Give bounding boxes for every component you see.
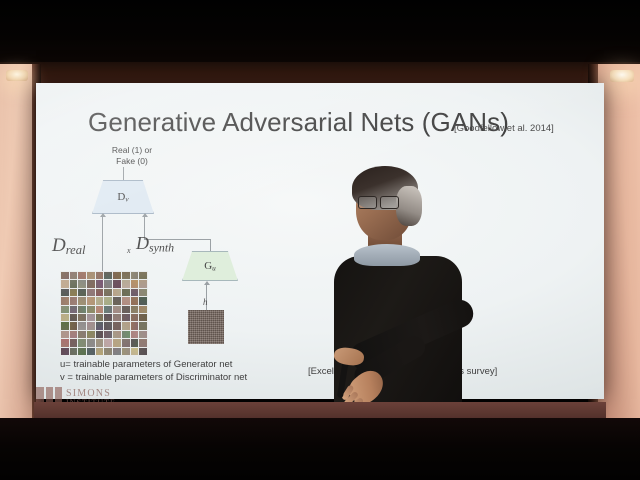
real-image-thumbnail: [96, 297, 104, 304]
real-image-thumbnail: [87, 331, 95, 338]
real-image-thumbnail: [131, 339, 139, 346]
real-image-thumbnail: [61, 272, 69, 279]
real-image-thumbnail: [139, 322, 147, 329]
latent-h-label: h: [203, 297, 208, 307]
real-image-thumbnail: [61, 289, 69, 296]
note-discriminator-params: v = trainable parameters of Discriminato…: [60, 372, 247, 383]
real-image-thumbnail: [131, 348, 139, 355]
real-image-thumbnail: [113, 297, 121, 304]
real-image-thumbnail: [122, 306, 130, 313]
real-image-thumbnail: [139, 306, 147, 313]
arrow-synth-to-disc-icon: [142, 213, 148, 217]
real-image-thumbnail: [78, 297, 86, 304]
edge-disc-to-output: [123, 167, 124, 181]
generator-label: Gu: [204, 260, 216, 273]
real-image-thumbnail: [96, 306, 104, 313]
diagram-output-label: Real (1) or Fake (0): [86, 145, 178, 167]
real-image-thumbnail: [131, 280, 139, 287]
real-image-thumbnail: [70, 272, 78, 279]
real-image-thumbnail: [113, 339, 121, 346]
real-image-thumbnail: [96, 322, 104, 329]
real-image-thumbnail: [96, 339, 104, 346]
real-image-thumbnail: [131, 331, 139, 338]
real-image-thumbnail: [122, 348, 130, 355]
generator-shape: Gu: [182, 251, 238, 281]
real-image-thumbnail: [122, 331, 130, 338]
real-image-thumbnail: [70, 322, 78, 329]
ceiling-light-left-icon: [6, 70, 28, 81]
discriminator-node: Dv: [92, 180, 154, 214]
output-label-line-1: Real (1) or: [86, 145, 178, 156]
real-image-thumbnail: [139, 348, 147, 355]
arrow-h-to-generator-icon: [204, 281, 210, 285]
real-image-thumbnail: [104, 297, 112, 304]
photo-frame: Generative Adversarial Nets (GANs) [Good…: [0, 0, 640, 480]
real-image-thumbnail: [131, 289, 139, 296]
real-image-thumbnail: [113, 331, 121, 338]
real-image-thumbnail: [87, 306, 95, 313]
real-image-thumbnail: [78, 322, 86, 329]
simons-logo-line-1: SIMONS: [66, 389, 116, 398]
real-image-thumbnail: [70, 348, 78, 355]
real-image-thumbnail: [61, 314, 69, 321]
speaker-raised-arm: [346, 295, 478, 374]
real-image-thumbnail: [87, 297, 95, 304]
real-image-thumbnail: [113, 322, 121, 329]
real-image-thumbnail: [87, 280, 95, 287]
real-image-thumbnail: [139, 331, 147, 338]
real-image-thumbnail: [113, 289, 121, 296]
arrow-x-to-disc-icon: [100, 213, 106, 217]
real-image-thumbnail: [113, 306, 121, 313]
real-image-thumbnail: [70, 289, 78, 296]
real-image-thumbnail: [78, 331, 86, 338]
real-image-thumbnail: [104, 322, 112, 329]
real-image-thumbnail: [78, 339, 86, 346]
real-image-thumbnail: [96, 272, 104, 279]
real-image-thumbnail: [139, 289, 147, 296]
real-image-thumbnail: [113, 280, 121, 287]
note-generator-params: u= trainable parameters of Generator net: [60, 359, 232, 370]
real-image-thumbnail: [122, 272, 130, 279]
real-image-thumbnail: [113, 272, 121, 279]
real-image-thumbnail: [61, 280, 69, 287]
real-image-grid: [60, 271, 148, 356]
real-image-thumbnail: [70, 297, 78, 304]
slide-citation: [Goodfellow et al. 2014]: [454, 123, 554, 134]
real-image-thumbnail: [78, 314, 86, 321]
real-image-thumbnail: [139, 314, 147, 321]
real-image-thumbnail: [78, 280, 86, 287]
foreground-dark-area: [0, 418, 640, 480]
edge-x-to-disc: [102, 217, 103, 273]
real-image-thumbnail: [96, 280, 104, 287]
real-image-thumbnail: [131, 272, 139, 279]
real-image-thumbnail: [70, 314, 78, 321]
real-image-thumbnail: [87, 289, 95, 296]
real-image-thumbnail: [87, 348, 95, 355]
ceiling: [0, 0, 640, 66]
discriminator-label: Dv: [117, 191, 128, 204]
real-image-thumbnail: [78, 348, 86, 355]
real-image-thumbnail: [96, 348, 104, 355]
real-image-thumbnail: [122, 314, 130, 321]
real-image-thumbnail: [104, 280, 112, 287]
real-image-thumbnail: [131, 314, 139, 321]
real-image-thumbnail: [113, 348, 121, 355]
real-image-thumbnail: [96, 331, 104, 338]
discriminator-shape: Dv: [92, 180, 154, 214]
real-image-thumbnail: [61, 339, 69, 346]
real-image-thumbnail: [104, 272, 112, 279]
real-image-thumbnail: [78, 289, 86, 296]
generator-node: Gu: [182, 251, 238, 281]
real-image-thumbnail: [122, 297, 130, 304]
speaker-collar: [354, 244, 420, 266]
real-image-thumbnail: [122, 322, 130, 329]
real-image-thumbnail: [61, 306, 69, 313]
dataset-synth-label: Dsynth: [136, 233, 174, 256]
real-image-thumbnail: [122, 289, 130, 296]
real-image-thumbnail: [70, 331, 78, 338]
real-image-thumbnail: [70, 306, 78, 313]
real-image-thumbnail: [61, 331, 69, 338]
ceiling-light-right-icon: [610, 70, 634, 82]
real-image-thumbnail: [131, 322, 139, 329]
real-image-thumbnail: [104, 339, 112, 346]
real-image-thumbnail: [78, 272, 86, 279]
slide-title: Generative Adversarial Nets (GANs): [88, 107, 509, 138]
real-image-thumbnail: [104, 289, 112, 296]
real-image-thumbnail: [139, 297, 147, 304]
real-image-thumbnail: [131, 297, 139, 304]
real-image-thumbnail: [122, 339, 130, 346]
real-image-thumbnail: [87, 314, 95, 321]
real-image-thumbnail: [61, 322, 69, 329]
real-image-thumbnail: [104, 331, 112, 338]
latent-noise-block: [188, 310, 224, 344]
output-label-line-2: Fake (0): [86, 156, 178, 167]
real-image-thumbnail: [70, 280, 78, 287]
real-image-thumbnail: [96, 314, 104, 321]
real-image-thumbnail: [139, 280, 147, 287]
real-image-thumbnail: [70, 339, 78, 346]
real-image-thumbnail: [122, 280, 130, 287]
dataset-real-label: Dreal: [52, 235, 85, 258]
real-image-thumbnail: [87, 339, 95, 346]
real-image-thumbnail: [87, 272, 95, 279]
real-image-thumbnail: [113, 314, 121, 321]
real-image-thumbnail: [78, 306, 86, 313]
real-image-thumbnail: [104, 314, 112, 321]
real-image-thumbnail: [139, 339, 147, 346]
real-image-thumbnail: [61, 348, 69, 355]
real-image-thumbnail: [131, 306, 139, 313]
real-image-thumbnail: [139, 272, 147, 279]
real-image-thumbnail: [96, 289, 104, 296]
real-image-thumbnail: [61, 297, 69, 304]
real-image-thumbnail: [87, 322, 95, 329]
input-x-label: x: [127, 246, 131, 255]
speaker-glasses-icon: [358, 196, 404, 207]
real-image-thumbnail: [104, 348, 112, 355]
real-image-thumbnail: [104, 306, 112, 313]
